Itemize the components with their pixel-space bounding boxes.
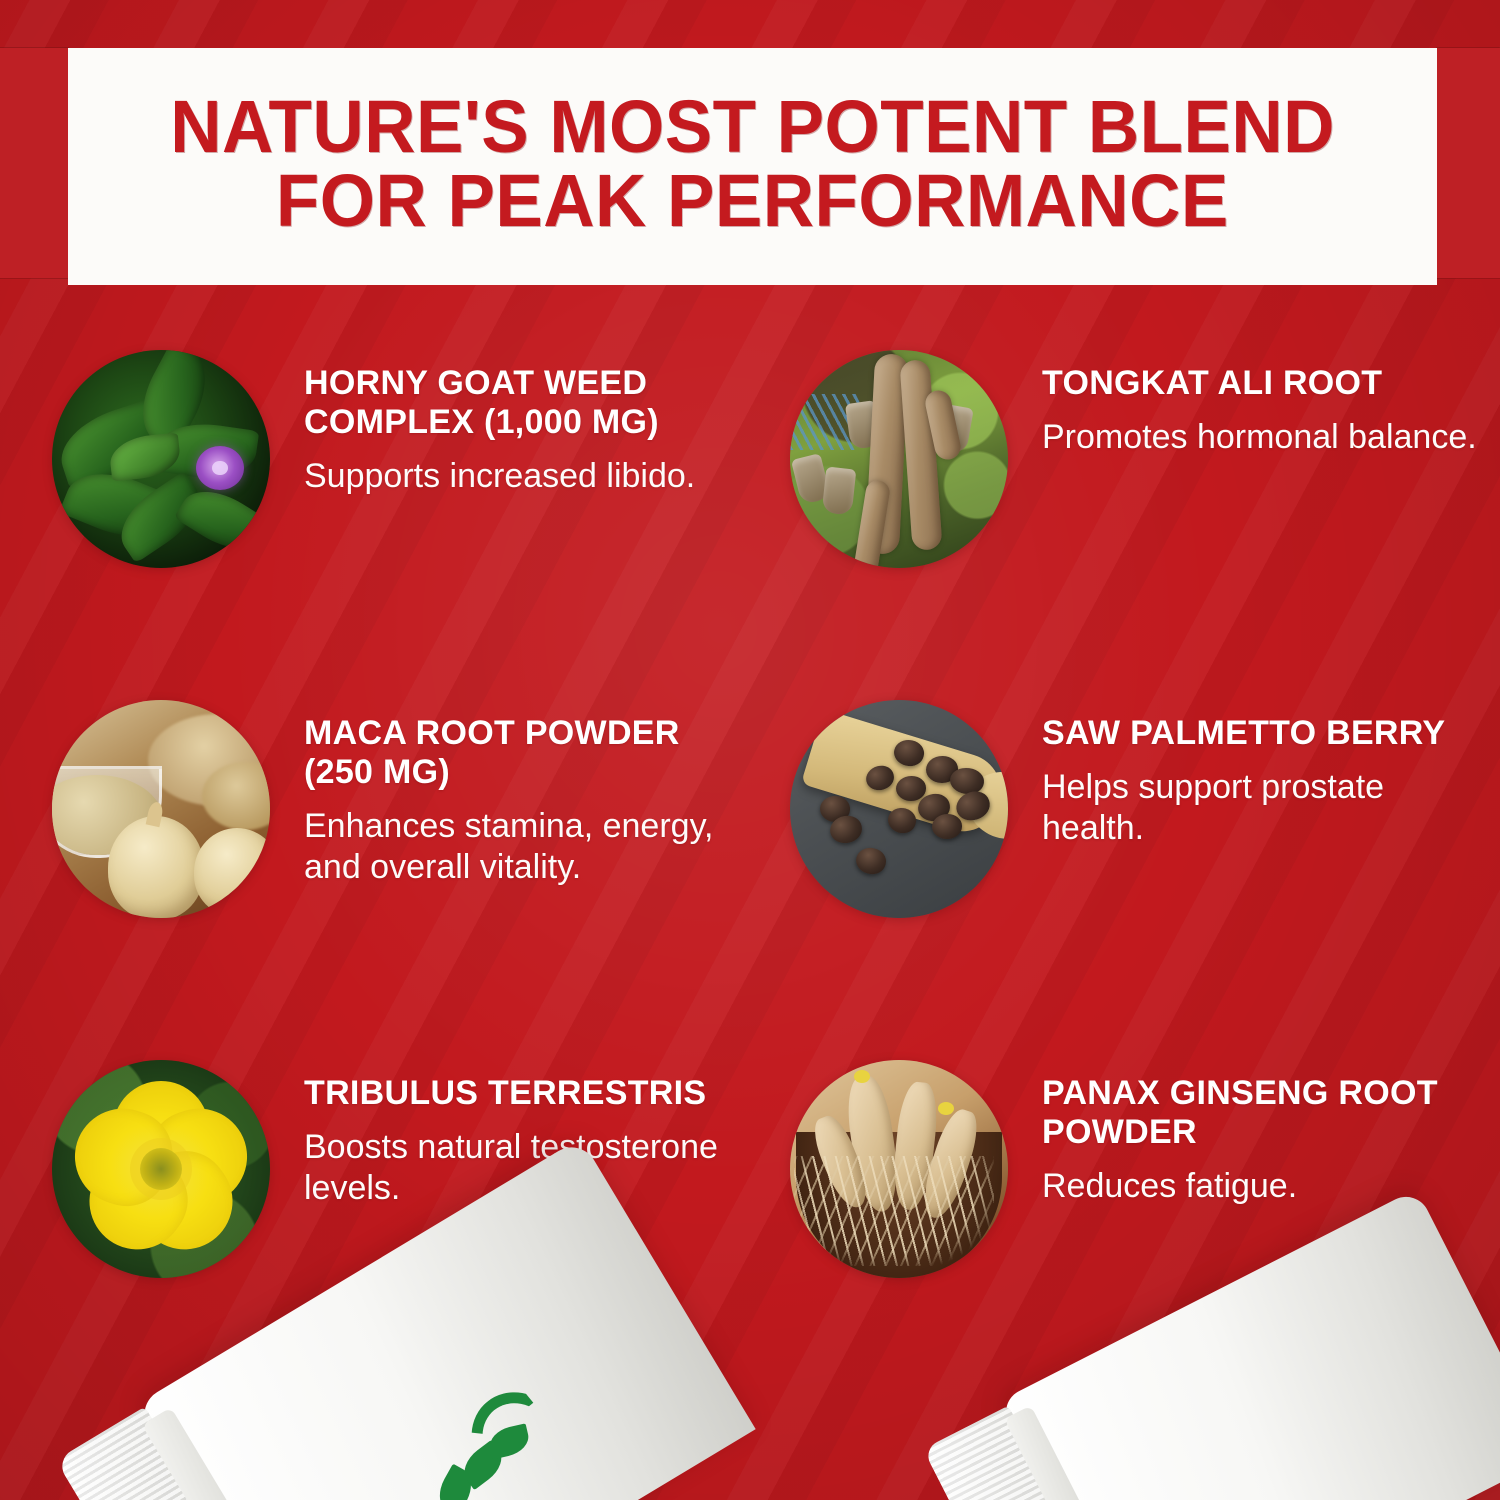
ingredient-item-maca-root: MACA ROOT POWDER (250 MG) Enhances stami… xyxy=(52,700,752,918)
header-accent-block-right xyxy=(1437,48,1500,278)
ingredient-title: TONGKAT ALI ROOT xyxy=(1042,364,1490,403)
ingredient-copy: MACA ROOT POWDER (250 MG) Enhances stami… xyxy=(270,700,752,888)
maca-root-image xyxy=(52,700,270,918)
ingredient-description: Helps support prostate health. xyxy=(1042,767,1490,850)
horny-goat-weed-photo xyxy=(52,350,270,568)
ingredient-grid: HORNY GOAT WEED COMPLEX (1,000 MG) Suppo… xyxy=(0,330,1500,1330)
ingredient-description: Enhances stamina, energy, and overall vi… xyxy=(304,806,752,889)
flower-center-icon xyxy=(140,1148,182,1190)
ingredient-copy: PANAX GINSENG ROOT POWDER Reduces fatigu… xyxy=(1008,1060,1490,1207)
panax-ginseng-photo xyxy=(790,1060,1008,1278)
ingredient-title: MACA ROOT POWDER (250 MG) xyxy=(304,714,752,792)
tongkat-ali-photo xyxy=(790,350,1008,568)
tribulus-terrestris-photo xyxy=(52,1060,270,1278)
ingredient-title: HORNY GOAT WEED COMPLEX (1,000 MG) xyxy=(304,364,752,442)
tongkat-ali-image xyxy=(790,350,1008,568)
header-banner: NATURE'S MOST POTENT BLEND FOR PEAK PERF… xyxy=(68,48,1437,285)
ingredient-item-horny-goat-weed: HORNY GOAT WEED COMPLEX (1,000 MG) Suppo… xyxy=(52,350,752,568)
ingredient-item-tongkat-ali: TONGKAT ALI ROOT Promotes hormonal balan… xyxy=(790,350,1490,568)
ingredient-item-saw-palmetto: SAW PALMETTO BERRY Helps support prostat… xyxy=(790,700,1490,918)
ingredient-title: SAW PALMETTO BERRY xyxy=(1042,714,1490,753)
ingredient-description: Reduces fatigue. xyxy=(1042,1166,1490,1207)
ingredient-title: TRIBULUS TERRESTRIS xyxy=(304,1074,752,1113)
ingredient-description: Supports increased libido. xyxy=(304,456,752,497)
panax-ginseng-image xyxy=(790,1060,1008,1278)
header-banner-group: NATURE'S MOST POTENT BLEND FOR PEAK PERF… xyxy=(0,48,1500,285)
ingredient-copy: TONGKAT ALI ROOT Promotes hormonal balan… xyxy=(1008,350,1490,458)
infographic-poster: NATURE'S MOST POTENT BLEND FOR PEAK PERF… xyxy=(0,0,1500,1500)
purple-flower-icon xyxy=(196,446,244,490)
ingredient-title: PANAX GINSENG ROOT POWDER xyxy=(1042,1074,1490,1152)
headline-line-2: FOR PEAK PERFORMANCE xyxy=(276,164,1229,237)
ingredient-description: Promotes hormonal balance. xyxy=(1042,417,1490,458)
brand-leaf-logo xyxy=(394,1367,591,1500)
ingredient-copy: SAW PALMETTO BERRY Helps support prostat… xyxy=(1008,700,1490,850)
horny-goat-weed-image xyxy=(52,350,270,568)
header-accent-block-left xyxy=(0,48,68,278)
saw-palmetto-image xyxy=(790,700,1008,918)
ingredient-copy: HORNY GOAT WEED COMPLEX (1,000 MG) Suppo… xyxy=(270,350,752,497)
maca-root-photo xyxy=(52,700,270,918)
tribulus-terrestris-image xyxy=(52,1060,270,1278)
headline-line-1: NATURE'S MOST POTENT BLEND xyxy=(170,90,1335,163)
saw-palmetto-photo xyxy=(790,700,1008,918)
